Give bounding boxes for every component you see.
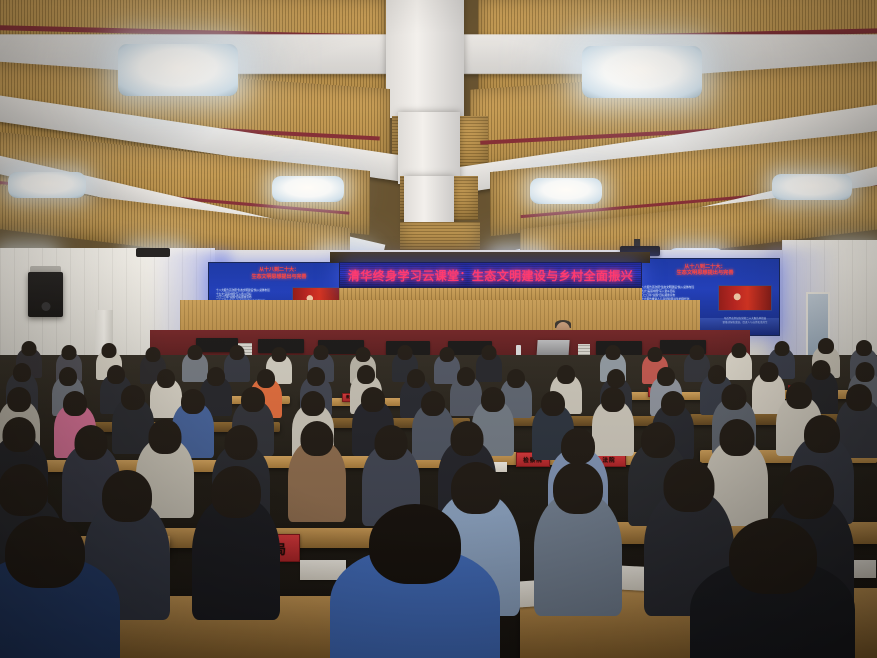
slide-title-right: 从十八到二十大： 生态文明思想提出与完善 — [637, 264, 773, 277]
audience-member — [476, 352, 502, 382]
ceiling-beam — [386, 0, 464, 118]
ceiling-beam — [398, 112, 460, 184]
ceiling-lamp — [530, 178, 602, 204]
ceiling-lamp — [272, 176, 344, 202]
nameplate-label: 法院 — [602, 456, 615, 464]
audience-member — [288, 440, 346, 522]
ceiling-lamp — [8, 172, 86, 198]
led-banner-text: 清华终身学习云课堂：生态文明建设与乡村全面振兴 — [348, 267, 633, 284]
audience-member — [592, 400, 634, 456]
slide-photo-right — [718, 285, 771, 311]
audience-member-foreground — [0, 556, 120, 658]
ceiling-projector-icon — [136, 248, 170, 257]
lecture-hall-photo: 从十八到二十大： 生态文明思想提出与完善 十八大报告首次把"生态文明建设"纳入总… — [0, 0, 877, 658]
audience-member — [192, 496, 280, 620]
slide-title-left: 从十八到二十大： 生态文明思想提出与完善 — [215, 267, 344, 280]
audience-member-foreground — [690, 560, 855, 658]
wall-speaker-icon — [28, 272, 63, 317]
audience-member-foreground — [330, 548, 500, 658]
ceiling-lamp — [772, 174, 852, 200]
ceiling-panel — [400, 222, 480, 250]
audience-member — [182, 352, 208, 382]
ceiling-lamp — [118, 44, 238, 96]
ceiling-lamp — [582, 46, 702, 98]
led-banner: 清华终身学习云课堂：生态文明建设与乡村全面振兴 — [339, 262, 642, 288]
audience-member — [224, 352, 250, 382]
audience-member — [726, 350, 752, 380]
ceiling — [0, 0, 877, 262]
audience-member — [534, 492, 622, 616]
